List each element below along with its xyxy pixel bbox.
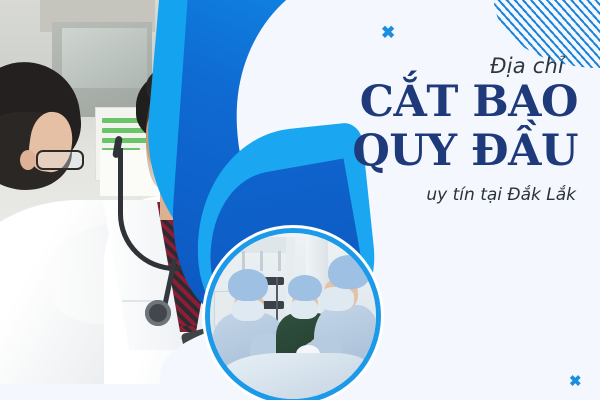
- x-mark-icon-top: ✖: [381, 24, 395, 41]
- surgeon-left-mask: [232, 299, 264, 321]
- tagline-text: uy tín tại Đắk Lắk: [346, 185, 576, 205]
- patient-glasses: [36, 150, 84, 170]
- surgeon-middle-mask: [290, 299, 318, 319]
- headline-line-1: CẮT BAO: [346, 80, 578, 125]
- surgeon-left-cap: [228, 269, 268, 301]
- surgeon-middle-cap: [288, 275, 322, 301]
- surgeon-right-cap: [328, 255, 370, 289]
- surgical-drape: [220, 353, 370, 400]
- surgeon-right-mask: [320, 287, 354, 311]
- eyebrow-text: Địa chỉ: [346, 54, 564, 78]
- bottom-white-strip: [0, 384, 214, 400]
- headline-text-block: Địa chỉ CẮT BAO QUY ĐẦU uy tín tại Đắk L…: [346, 54, 578, 205]
- surgery-circle-photo: [205, 228, 381, 400]
- clinic-window: [62, 28, 147, 88]
- x-mark-icon-bottom: ✖: [569, 374, 582, 389]
- headline-line-2: QUY ĐẦU: [346, 129, 578, 174]
- promo-banner: ✖ ✖ Địa chỉ CẮT BAO QUY ĐẦU uy tín tại Đ…: [0, 0, 600, 400]
- stethoscope-chestpiece-icon: [145, 300, 171, 326]
- surgical-lamp-icon: [234, 237, 292, 253]
- patient-ear: [20, 150, 36, 170]
